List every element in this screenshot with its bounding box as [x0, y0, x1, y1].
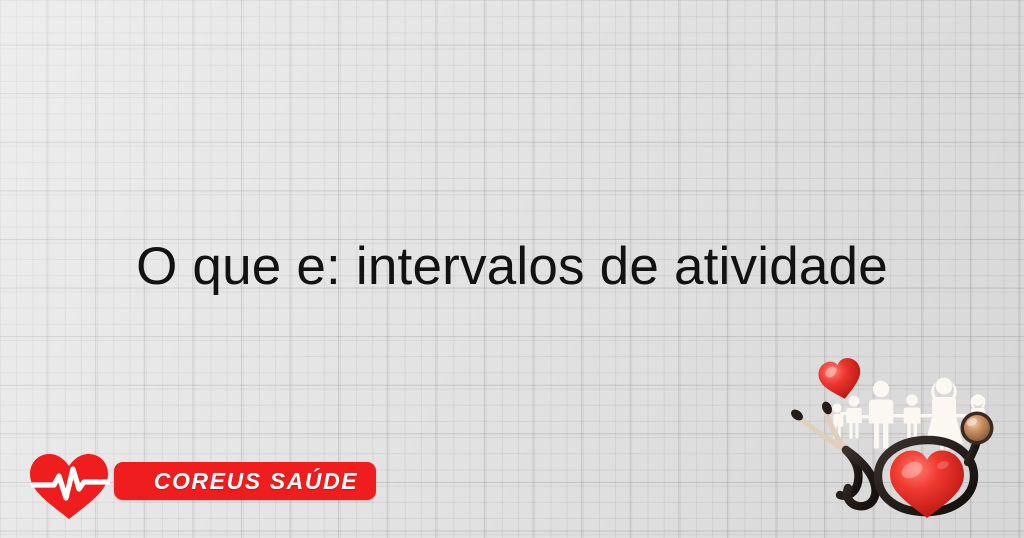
- slide-canvas: O que e: intervalos de atividade COREUS …: [0, 0, 1024, 538]
- health-collage: health care illustration: [778, 352, 1024, 538]
- brand-logo[interactable]: COREUS SAÚDE: [28, 450, 354, 520]
- small-heart-icon: [816, 356, 865, 403]
- heart-pulse-icon: [28, 452, 110, 520]
- page-title: O que e: intervalos de atividade: [0, 238, 1024, 296]
- brand-name-label: COREUS SAÚDE: [114, 462, 376, 500]
- stethoscope-chestpiece-icon: [961, 412, 994, 445]
- brand-name-badge: COREUS SAÚDE: [114, 462, 376, 500]
